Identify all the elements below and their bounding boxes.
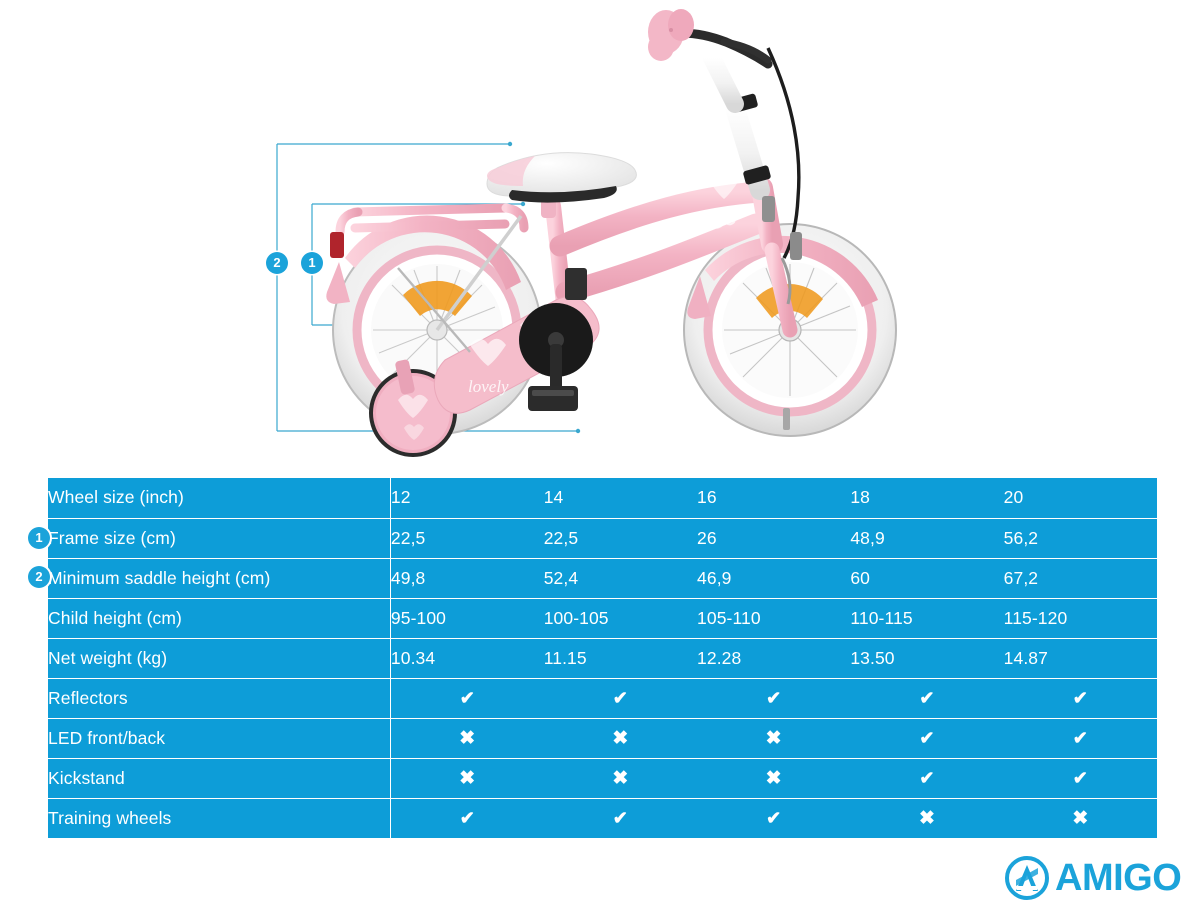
dimension-marker-1: 1 [301, 252, 323, 274]
table-row-label: Minimum saddle height (cm) [48, 558, 390, 598]
product-figure: AMIGO lovely [0, 0, 1200, 470]
table-cell: ✔ [1004, 678, 1157, 718]
table-cell: ✖ [1004, 798, 1157, 838]
check-icon: ✔ [1073, 689, 1088, 707]
table-cell: 105-110 [697, 598, 850, 638]
check-icon: ✔ [919, 689, 934, 707]
table-row-label: Child height (cm) [48, 598, 390, 638]
table-row: Training wheels✔✔✔✖✖ [48, 798, 1157, 838]
table-row: Kickstand✖✖✖✔✔ [48, 758, 1157, 798]
check-icon: ✔ [766, 809, 781, 827]
table-row: LED front/back✖✖✖✔✔ [48, 718, 1157, 758]
check-icon: ✔ [613, 689, 628, 707]
check-icon: ✔ [613, 809, 628, 827]
check-icon: ✔ [919, 769, 934, 787]
table-row-badge-1: 1 [28, 527, 50, 549]
table-cell: ✔ [850, 678, 1003, 718]
amigo-mark-icon [1005, 856, 1049, 900]
check-icon: ✔ [766, 689, 781, 707]
brand-logo: AMIGO [1005, 855, 1181, 901]
cross-icon: ✖ [1072, 809, 1088, 828]
specification-table-body: Wheel size (inch)1214161820Frame size (c… [48, 478, 1157, 838]
specification-table: Wheel size (inch)1214161820Frame size (c… [48, 478, 1157, 838]
table-cell: 56,2 [1004, 518, 1157, 558]
table-cell: 14 [544, 478, 697, 518]
bottle-bracket [565, 268, 587, 300]
cross-icon: ✖ [459, 729, 475, 748]
bicycle-illustration: AMIGO lovely [0, 0, 1200, 470]
table-cell: ✖ [390, 758, 543, 798]
table-cell: 16 [697, 478, 850, 518]
table-cell: 49,8 [390, 558, 543, 598]
table-row: Frame size (cm)22,522,52648,956,2 [48, 518, 1157, 558]
table-row-badge-2: 2 [28, 566, 50, 588]
table-cell: 18 [850, 478, 1003, 518]
table-row-label: Kickstand [48, 758, 390, 798]
table-cell: ✖ [697, 718, 850, 758]
brand-wordmark: AMIGO [1055, 859, 1181, 897]
table-cell: ✔ [850, 718, 1003, 758]
table-cell: 22,5 [390, 518, 543, 558]
table-cell: ✔ [1004, 758, 1157, 798]
table-cell: 10.34 [390, 638, 543, 678]
cross-icon: ✖ [612, 729, 628, 748]
table-cell: 60 [850, 558, 1003, 598]
table-cell: 52,4 [544, 558, 697, 598]
table-cell: 14.87 [1004, 638, 1157, 678]
table-cell: ✖ [390, 718, 543, 758]
table-cell: 67,2 [1004, 558, 1157, 598]
dimension-marker-2: 2 [266, 252, 288, 274]
cross-icon: ✖ [766, 769, 782, 788]
table-cell: ✔ [850, 758, 1003, 798]
table-cell: ✖ [697, 758, 850, 798]
table-cell: ✔ [390, 798, 543, 838]
table-cell: ✔ [1004, 718, 1157, 758]
check-icon: ✔ [1073, 769, 1088, 787]
table-row-label: Wheel size (inch) [48, 478, 390, 518]
table-row: Child height (cm)95-100100-105105-110110… [48, 598, 1157, 638]
cross-icon: ✖ [612, 769, 628, 788]
table-cell: 11.15 [544, 638, 697, 678]
check-icon: ✔ [460, 689, 475, 707]
cross-icon: ✖ [919, 809, 935, 828]
table-row-label: LED front/back [48, 718, 390, 758]
table-row-label: Frame size (cm) [48, 518, 390, 558]
table-cell: 46,9 [697, 558, 850, 598]
table-cell: 26 [697, 518, 850, 558]
check-icon: ✔ [1073, 729, 1088, 747]
table-cell: 110-115 [850, 598, 1003, 638]
table-row: Reflectors✔✔✔✔✔ [48, 678, 1157, 718]
table-cell: 22,5 [544, 518, 697, 558]
check-icon: ✔ [919, 729, 934, 747]
table-row-label: Net weight (kg) [48, 638, 390, 678]
table-row-label: Reflectors [48, 678, 390, 718]
table-row-label: Training wheels [48, 798, 390, 838]
table-cell: ✔ [390, 678, 543, 718]
table-cell: ✖ [850, 798, 1003, 838]
chainguard-wordmark: lovely [468, 377, 509, 396]
table-cell: 12 [390, 478, 543, 518]
table-cell: 100-105 [544, 598, 697, 638]
table-cell: 20 [1004, 478, 1157, 518]
table-row: Minimum saddle height (cm)49,852,446,960… [48, 558, 1157, 598]
table-cell: 12.28 [697, 638, 850, 678]
table-cell: ✔ [544, 798, 697, 838]
rear-reflector [330, 232, 344, 258]
table-cell: 13.50 [850, 638, 1003, 678]
cross-icon: ✖ [459, 769, 475, 788]
table-cell: ✔ [544, 678, 697, 718]
table-cell: 95-100 [390, 598, 543, 638]
table-cell: ✔ [697, 798, 850, 838]
table-cell: 115-120 [1004, 598, 1157, 638]
check-icon: ✔ [460, 809, 475, 827]
table-row: Net weight (kg)10.3411.1512.2813.5014.87 [48, 638, 1157, 678]
table-cell: ✖ [544, 758, 697, 798]
table-cell: 48,9 [850, 518, 1003, 558]
table-cell: ✖ [544, 718, 697, 758]
cross-icon: ✖ [766, 729, 782, 748]
table-cell: ✔ [697, 678, 850, 718]
table-row: Wheel size (inch)1214161820 [48, 478, 1157, 518]
